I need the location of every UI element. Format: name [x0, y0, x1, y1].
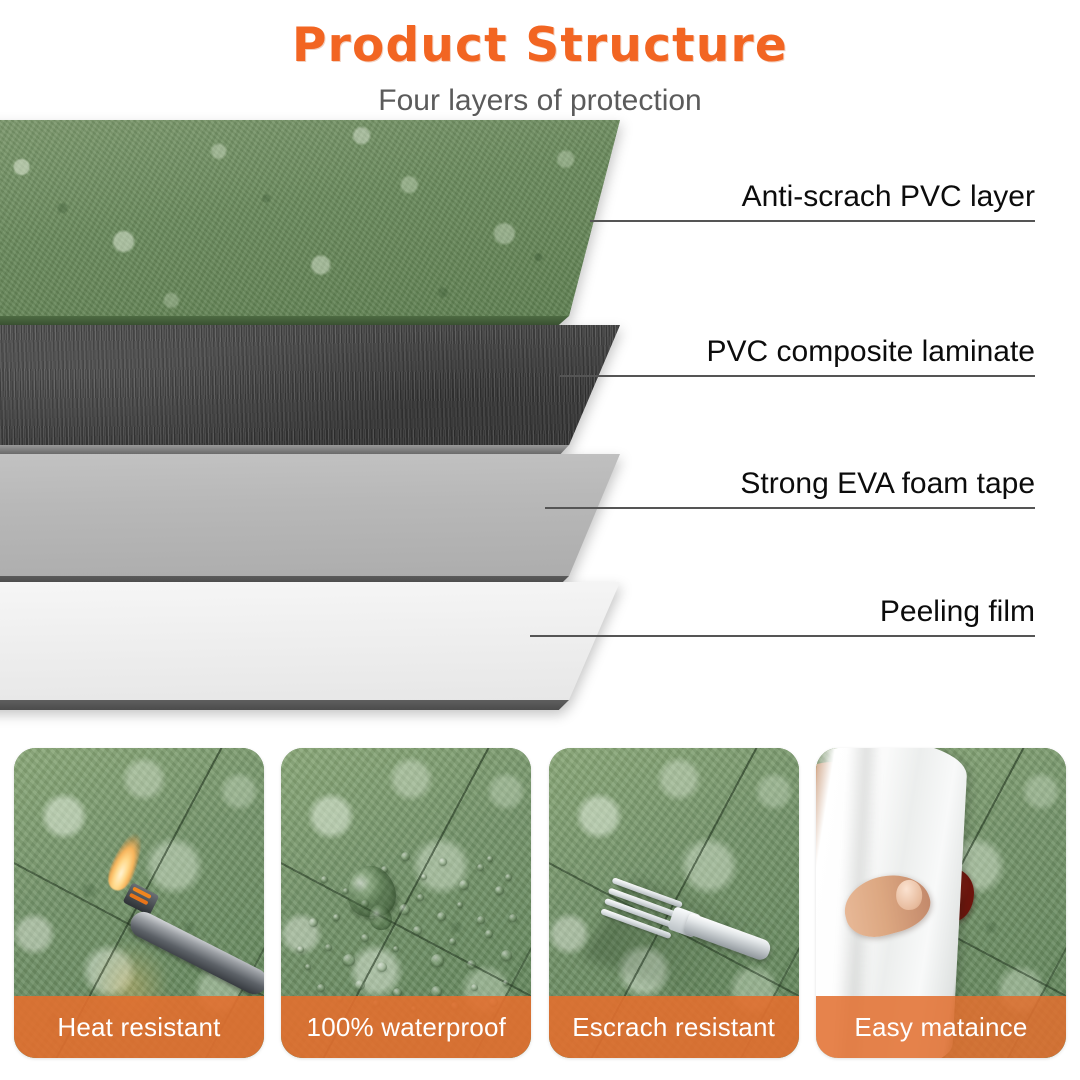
fork-handle: [683, 912, 773, 962]
thumbnail-icon: [896, 880, 923, 910]
callout-label: Peeling film: [530, 597, 1035, 635]
water-bead: [503, 980, 509, 986]
callout-leader-line: [545, 507, 1035, 509]
header: Product Structure Four layers of protect…: [0, 0, 1080, 112]
water-bead: [471, 984, 478, 991]
water-bead: [439, 858, 447, 866]
water-bead: [467, 960, 476, 969]
water-bead: [355, 980, 365, 990]
water-bead: [505, 874, 512, 881]
water-bead: [325, 944, 332, 951]
water-bead: [477, 916, 485, 924]
feature-caption: Escrach resistant: [549, 996, 799, 1058]
callout-label: Anti-scrach PVC layer: [590, 182, 1035, 220]
water-bead: [449, 938, 456, 945]
water-bead: [317, 984, 325, 992]
feature-card-heat-resistant[interactable]: Heat resistant: [14, 748, 264, 1058]
water-bead: [321, 876, 328, 883]
water-bead: [495, 886, 504, 895]
callout-leader-line: [590, 220, 1035, 222]
water-bead: [417, 894, 424, 901]
callout-label: Strong EVA foam tape: [545, 469, 1035, 507]
layer-callouts: Anti-scrach PVC layer PVC composite lami…: [0, 112, 1080, 732]
water-bead: [459, 880, 469, 890]
water-bead: [343, 954, 355, 966]
feature-caption: Easy mataince: [816, 996, 1066, 1058]
feature-caption: Heat resistant: [14, 996, 264, 1058]
page-title: Product Structure: [0, 0, 1080, 69]
water-bead: [309, 918, 318, 927]
callout-pvc-composite-laminate: PVC composite laminate: [560, 337, 1035, 377]
water-bead: [297, 946, 304, 953]
callout-label: PVC composite laminate: [560, 337, 1035, 375]
callout-peeling-film: Peeling film: [530, 597, 1035, 637]
callout-leader-line: [560, 375, 1035, 377]
water-bead: [509, 914, 517, 922]
water-bead: [401, 852, 410, 861]
feature-card-row: Heat resistant 100% waterproof Escrach r…: [0, 748, 1080, 1080]
water-bead: [457, 902, 463, 908]
water-bead: [501, 950, 512, 961]
callout-leader-line: [530, 635, 1035, 637]
water-bead: [393, 946, 399, 952]
water-bead: [421, 874, 427, 880]
callout-eva-foam-tape: Strong EVA foam tape: [545, 469, 1035, 509]
feature-card-scratch-resistant[interactable]: Escrach resistant: [549, 748, 799, 1058]
water-bead: [437, 912, 446, 921]
water-bead: [485, 930, 493, 938]
page-subtitle: Four layers of protection: [0, 69, 1080, 116]
water-bead: [333, 914, 340, 921]
water-bead: [413, 926, 422, 935]
water-bead: [431, 954, 444, 967]
water-bead: [305, 964, 311, 970]
feature-card-easy-maintenance[interactable]: Easy mataince: [816, 748, 1066, 1058]
water-bead: [361, 934, 369, 942]
water-bead: [487, 856, 493, 862]
feature-card-waterproof[interactable]: 100% waterproof: [281, 748, 531, 1058]
water-bead: [477, 864, 484, 871]
callout-anti-scratch-pvc: Anti-scrach PVC layer: [590, 182, 1035, 222]
water-bead: [377, 962, 387, 972]
feature-caption: 100% waterproof: [281, 996, 531, 1058]
water-bead: [399, 904, 410, 915]
